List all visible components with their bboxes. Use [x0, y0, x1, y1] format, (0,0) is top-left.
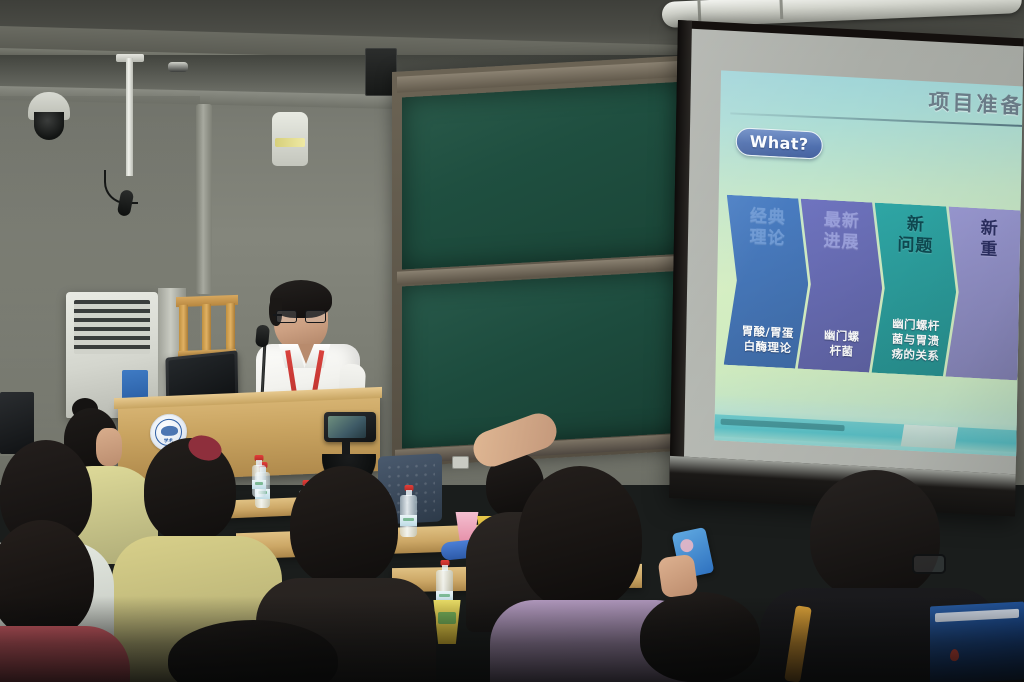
projection-screen: 项目准备 What? 经典 理论 胃酸/胃蛋 白酶理论 最新 进展 幽门螺 杆菌…: [669, 20, 1023, 516]
chevron-step-detail: 幽门螺杆 菌与胃溃 疡的关系: [880, 316, 952, 365]
wall-power-socket[interactable]: [452, 456, 469, 469]
bottle-label: [400, 515, 417, 526]
glasses-icon: [912, 554, 946, 574]
laptop-screen[interactable]: [930, 602, 1024, 682]
attendee-head: [144, 438, 236, 542]
lecture-hall-scene: 项目准备 What? 经典 理论 胃酸/胃蛋 白酶理论 最新 进展 幽门螺 杆菌…: [0, 0, 1024, 682]
dispenser-band: [275, 138, 305, 147]
chevron-step-detail: 胃酸/胃蛋 白酶理论: [732, 323, 803, 357]
green-chalkboard: [392, 55, 702, 467]
laptop-toolbar: [935, 609, 1019, 622]
glasses-icon: [276, 310, 326, 322]
slide-footer-band: [714, 394, 1023, 456]
recording-phone[interactable]: [324, 412, 376, 442]
podium-microphone-icon: [255, 324, 270, 347]
chevron-step: 最新 进展 幽门螺 杆菌: [798, 199, 884, 373]
screen-canvas: 项目准备 What? 经典 理论 胃酸/胃蛋 白酶理论 最新 进展 幽门螺 杆菌…: [684, 29, 1024, 475]
chevron-step: 新 问题 幽门螺杆 菌与胃溃 疡的关系: [872, 203, 958, 377]
attendee-face: [96, 428, 122, 466]
water-bottle: [252, 455, 266, 497]
chevron-step-detail: [954, 365, 1024, 369]
slide-header-title: 项目准备: [928, 85, 1023, 120]
attendee-head: [290, 466, 398, 586]
chevron-step-title: 最新 进展: [823, 210, 860, 253]
bottle-body: [252, 465, 266, 497]
chevron-process-diagram: 经典 理论 胃酸/胃蛋 白酶理论 最新 进展 幽门螺 杆菌 新 问题 幽门螺杆 …: [724, 195, 1024, 383]
attendee-top: [0, 626, 130, 682]
bottle-label: [252, 480, 266, 488]
water-bottle: [400, 485, 417, 537]
ceiling-mic-pole: [126, 58, 133, 176]
emblem-mark: [161, 425, 178, 436]
cup-label: [438, 612, 456, 624]
roller-hanger: [697, 0, 701, 22]
attendee-head: [0, 520, 94, 638]
chevron-step-title: 新 问题: [897, 214, 934, 257]
glasses-bridge: [273, 314, 282, 316]
chevron-step: 经典 理论 胃酸/胃蛋 白酶理论: [724, 195, 810, 369]
phone-screen: [328, 416, 366, 438]
chevron-step-title: 经典 理论: [749, 206, 786, 249]
presentation-slide: 项目准备 What? 经典 理论 胃酸/胃蛋 白酶理论 最新 进展 幽门螺 杆菌…: [714, 70, 1023, 456]
ac-vent-grille: [74, 300, 150, 354]
attendee-head: [518, 466, 642, 610]
chevron-step: 新 重: [946, 207, 1024, 381]
slide-footer-bridge: [900, 424, 957, 449]
attendee-hand: [657, 554, 698, 599]
attendee-head: [640, 592, 760, 682]
chevron-step-title: 新 重: [980, 218, 999, 260]
ceiling-sensor-icon: [168, 62, 188, 72]
roller-hanger: [779, 0, 783, 19]
map-pin-icon: [950, 649, 959, 661]
chalkboard-upper-panel: [402, 81, 692, 269]
chevron-step-detail: 幽门螺 杆菌: [806, 327, 877, 361]
bottle-body: [400, 495, 417, 537]
wall-dispenser-icon: [272, 112, 308, 166]
wall-pipe: [196, 104, 212, 294]
attendee-head: [810, 470, 940, 600]
slide-what-badge: What?: [736, 127, 823, 160]
